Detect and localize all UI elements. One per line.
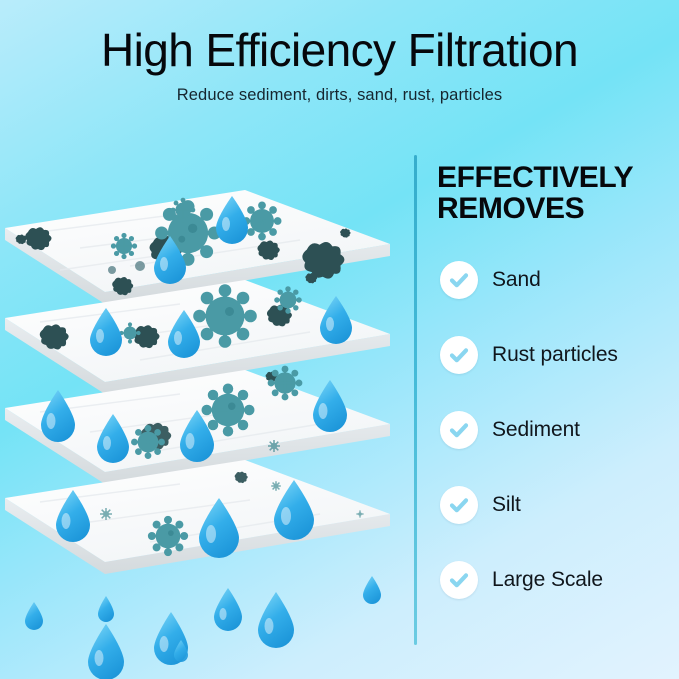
check-circle-icon	[440, 261, 478, 299]
removes-item-rust-particles[interactable]: Rust particles	[440, 336, 679, 374]
removes-item-label: Rust particles	[492, 343, 618, 367]
removes-list: Sand Rust particles Sediment	[440, 261, 679, 636]
clean-water-droplets	[0, 480, 415, 679]
removes-item-sand[interactable]: Sand	[440, 261, 679, 299]
removes-item-silt[interactable]: Silt	[440, 486, 679, 524]
header: High Efficiency Filtration Reduce sedime…	[0, 0, 679, 130]
check-circle-icon	[440, 561, 478, 599]
check-circle-icon	[440, 486, 478, 524]
removes-heading: EFFECTIVELY REMOVES	[437, 163, 679, 224]
filter-stack-illustration	[0, 150, 415, 679]
infographic-canvas: High Efficiency Filtration Reduce sedime…	[0, 0, 679, 679]
removes-item-sediment[interactable]: Sediment	[440, 411, 679, 449]
check-circle-icon	[440, 411, 478, 449]
removes-item-label: Sediment	[492, 418, 580, 442]
check-circle-icon	[440, 336, 478, 374]
removes-item-label: Silt	[492, 493, 521, 517]
page-subtitle: Reduce sediment, dirts, sand, rust, part…	[0, 86, 679, 105]
removes-item-label: Large Scale	[492, 568, 603, 592]
page-title: High Efficiency Filtration	[0, 26, 679, 74]
effectively-removes-panel: EFFECTIVELY REMOVES Sand Rust particles	[437, 163, 679, 653]
removes-item-large-scale[interactable]: Large Scale	[440, 561, 679, 599]
removes-item-label: Sand	[492, 268, 541, 292]
